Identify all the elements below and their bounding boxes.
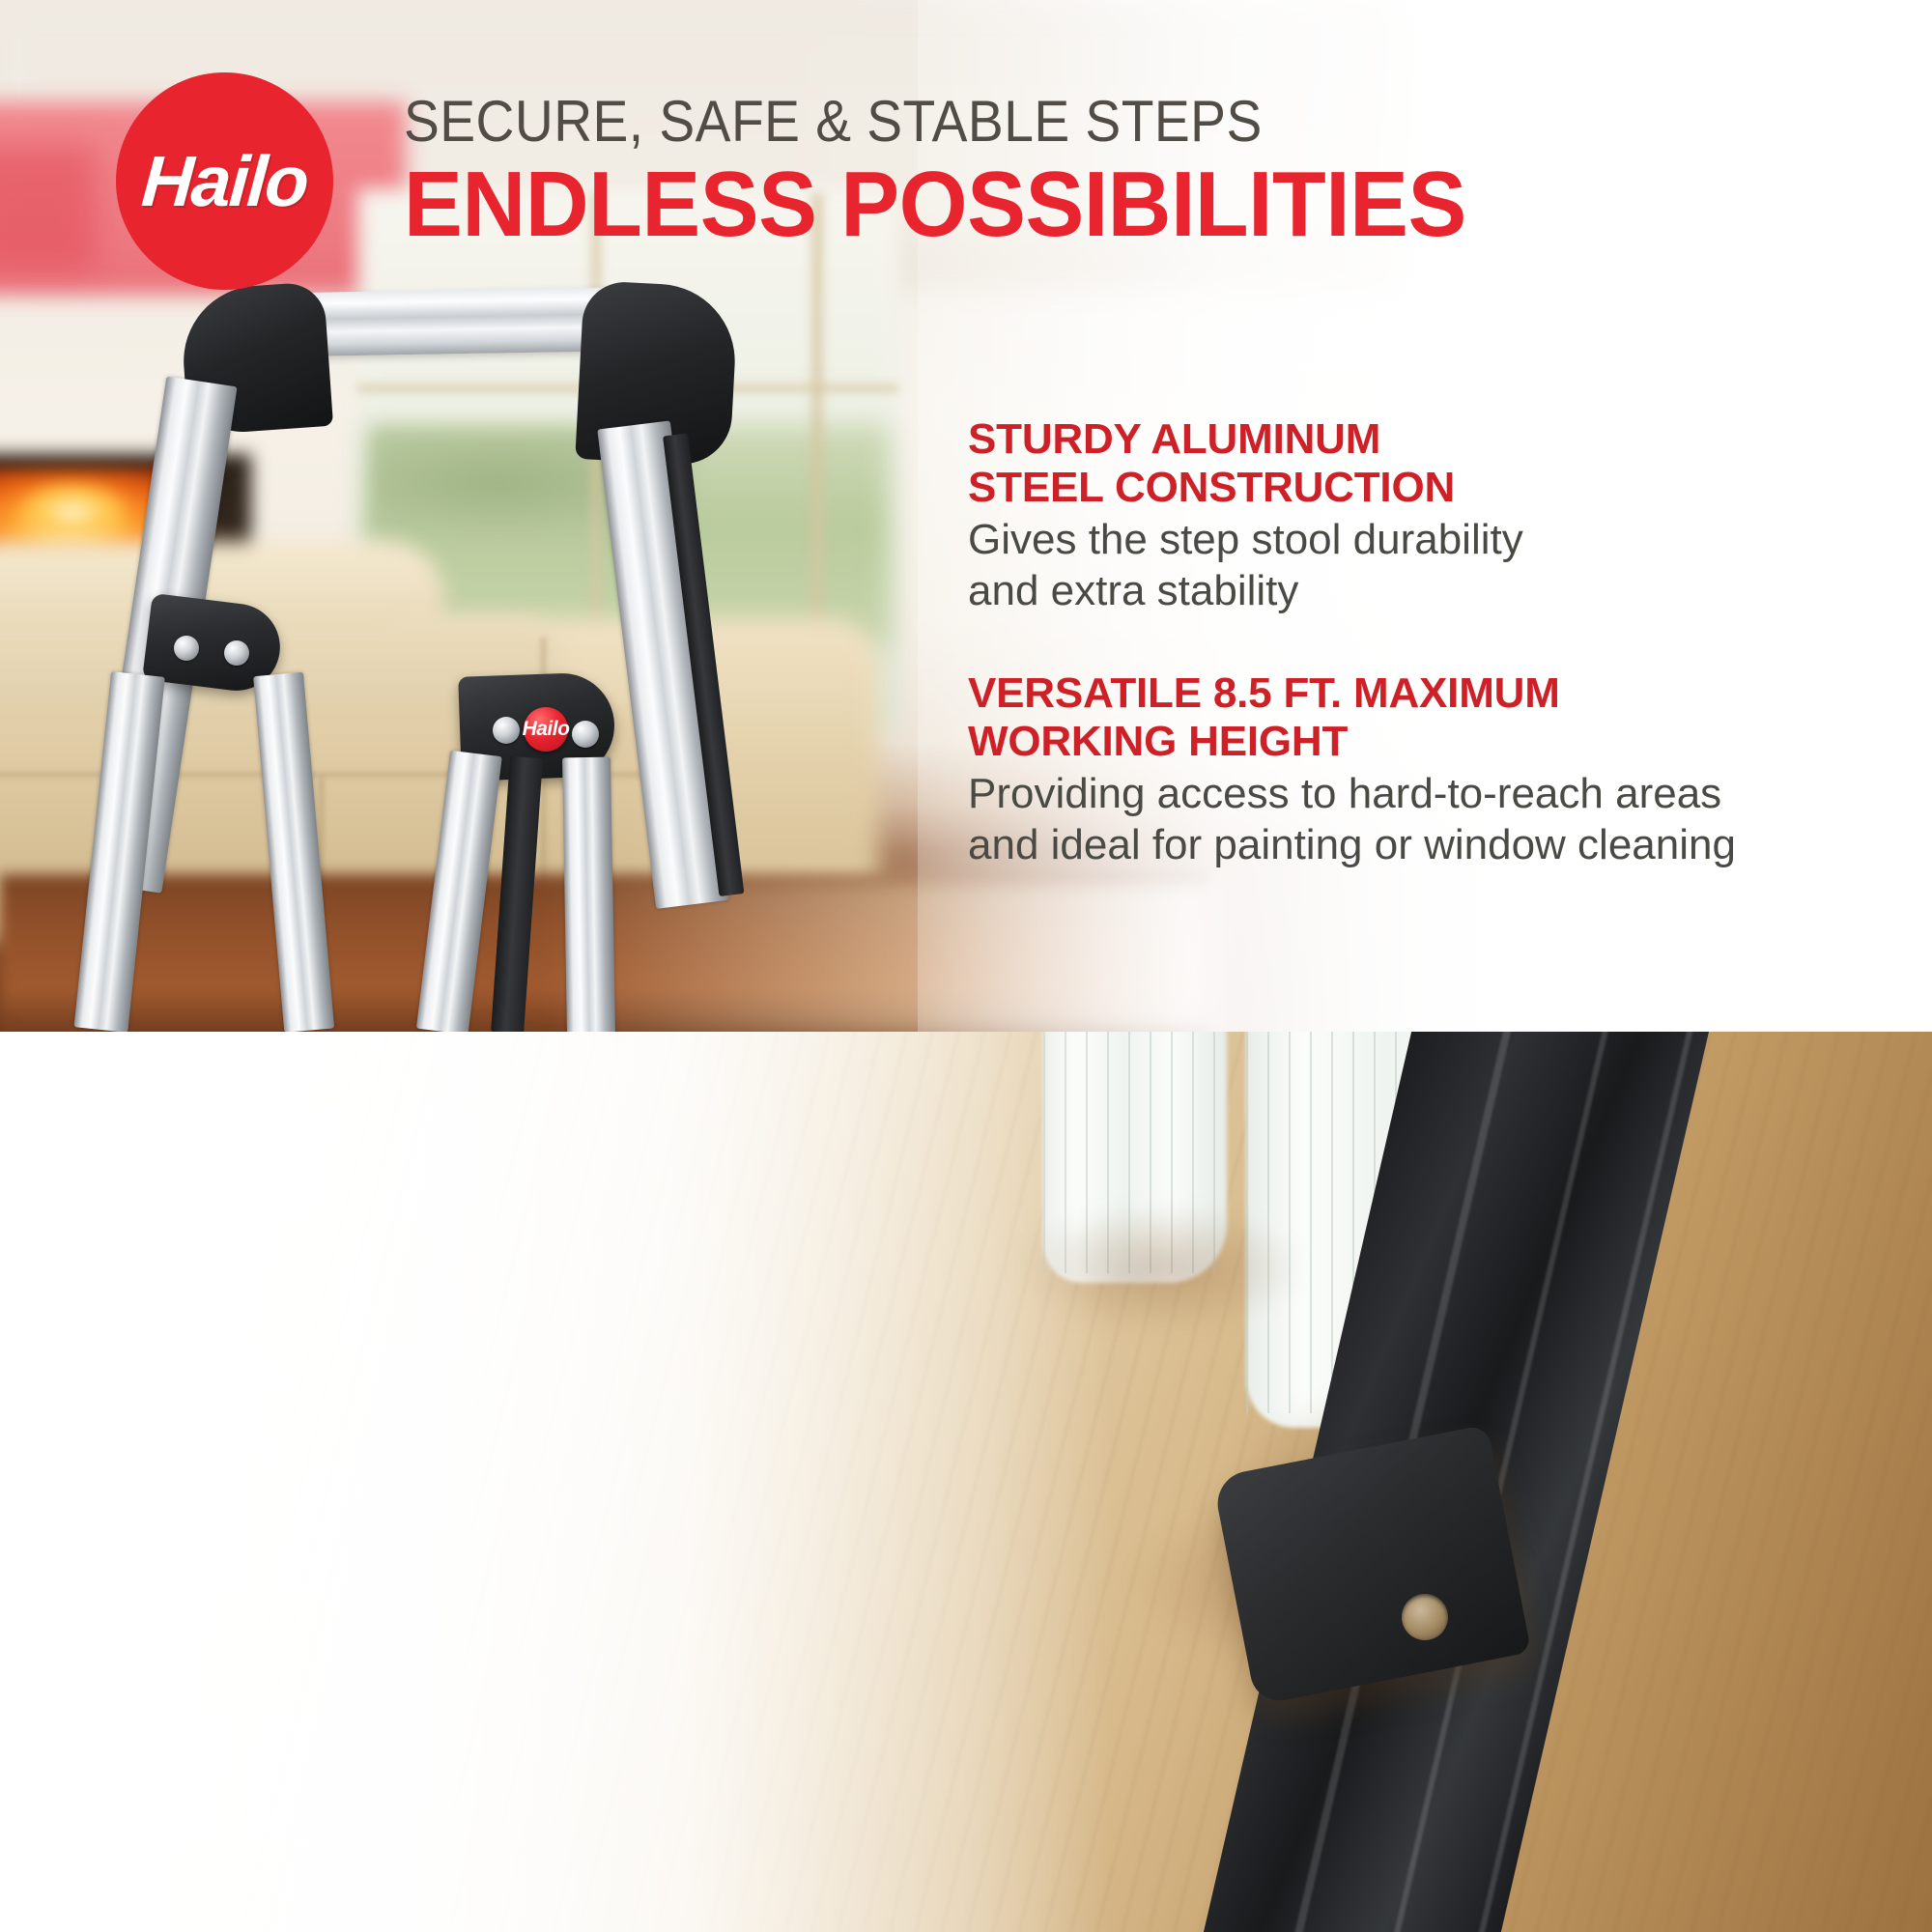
stool-right-middle-strip: [491, 756, 543, 1032]
stool-hailo-badge: Hailo: [524, 707, 568, 752]
headline-group: SECURE, SAFE & STABLE STEPS ENDLESS POSS…: [404, 92, 1522, 252]
feature-title: VERSATILE 8.5 FT. MAXIMUM WORKING HEIGHT: [968, 669, 1866, 765]
bottom-section: SLIP-RESISTANT FEET 100% GROUND CONTACT …: [0, 1032, 1932, 1932]
stool-left-rear-leg: [253, 672, 334, 1032]
feature-body-line2: and extra stability: [968, 567, 1298, 614]
background-left-white-wash: [0, 1032, 1111, 1932]
feature-title: STURDY ALUMINUM STEEL CONSTRUCTION: [968, 415, 1866, 511]
stool-left-hinge-rivet: [174, 636, 199, 661]
feature-title-line1: VERSATILE 8.5 FT. MAXIMUM: [968, 669, 1560, 717]
feature-body: Providing access to hard-to-reach areas …: [968, 769, 1866, 871]
stool-right-rear-leg: [562, 757, 615, 1032]
background-poster-inner: [0, 145, 97, 270]
infographic-page: Hailo Hailo SECURE, SAFE & STABLE STEPS …: [0, 0, 1932, 1932]
stool-hailo-badge-text: Hailo: [523, 718, 570, 741]
hailo-logo-wordmark: Hailo: [139, 140, 310, 222]
stool-top-rail: [306, 287, 626, 356]
feature-body: Gives the step stool durability and extr…: [968, 515, 1866, 617]
feature-title-line2: STEEL CONSTRUCTION: [968, 464, 1455, 511]
top-section: Hailo Hailo SECURE, SAFE & STABLE STEPS …: [0, 0, 1932, 1032]
feature-body-line2: and ideal for painting or window cleanin…: [968, 821, 1736, 868]
headline-kicker: SECURE, SAFE & STABLE STEPS: [404, 92, 1433, 152]
stool-right-front-leg: [416, 751, 502, 1032]
stool-right-hinge-rivet: [493, 717, 520, 744]
top-feature-list: STURDY ALUMINUM STEEL CONSTRUCTION Gives…: [968, 415, 1866, 871]
hailo-logo: Hailo: [116, 72, 333, 290]
stool-left-hinge-rivet: [224, 640, 249, 666]
step-stool-handle-photo: Hailo: [0, 290, 869, 1032]
feature-body-line1: Providing access to hard-to-reach areas: [968, 770, 1721, 817]
feature-sturdy-aluminum: STURDY ALUMINUM STEEL CONSTRUCTION Gives…: [968, 415, 1866, 617]
feature-title-line2: WORKING HEIGHT: [968, 718, 1348, 765]
stool-right-hinge-rivet: [572, 721, 599, 748]
feature-body-line1: Gives the step stool durability: [968, 516, 1523, 563]
feature-title-line1: STURDY ALUMINUM: [968, 415, 1380, 463]
feature-versatile-height: VERSATILE 8.5 FT. MAXIMUM WORKING HEIGHT…: [968, 669, 1866, 871]
headline-hero: ENDLESS POSSIBILITIES: [404, 157, 1466, 252]
foot-mounting-hole: [1402, 1594, 1448, 1640]
